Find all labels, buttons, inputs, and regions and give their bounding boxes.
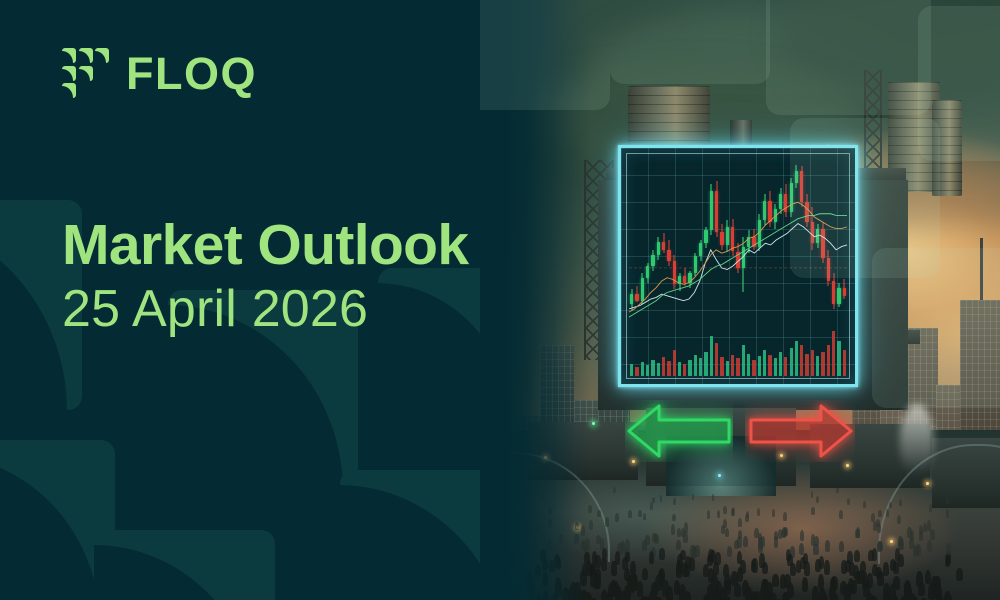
person-silhouette [712,494,715,501]
person-silhouette [625,539,630,551]
volume-bar [843,350,846,376]
person-silhouette [752,558,758,573]
person-silhouette [909,593,916,600]
person-silhouette [684,591,691,600]
volume-bar [715,343,718,376]
person-silhouette [673,498,676,505]
person-silhouette [612,581,619,597]
person-silhouette [596,535,601,545]
person-silhouette [919,531,924,541]
person-silhouette [638,510,642,517]
person-silhouette [723,564,729,577]
volume-bar [678,362,681,376]
volume-bar [688,360,691,376]
person-silhouette [595,555,601,568]
person-silhouette [738,518,742,527]
person-silhouette [889,502,892,509]
person-silhouette [620,591,627,600]
volume-bar [832,331,835,376]
person-silhouette [856,527,860,538]
billboard-screen[interactable] [618,145,858,387]
artwork-edge-fade [480,0,590,600]
volume-bar [673,350,676,376]
person-silhouette [645,535,650,545]
brand-lockup[interactable]: FLOQ [62,48,257,98]
person-silhouette [796,560,802,573]
person-silhouette [787,554,793,567]
person-silhouette [613,487,615,493]
person-silhouette [772,509,776,517]
person-silhouette [819,556,825,569]
poster-canvas: FLOQ Market Outlook 25 April 2026 [0,0,1000,600]
hero-artwork [480,0,1000,600]
volume-bar [747,354,750,376]
person-silhouette [847,498,850,505]
person-silhouette [671,524,675,535]
volume-bar [837,341,840,376]
person-silhouette [802,577,809,592]
volume-bar [726,361,729,376]
person-silhouette [593,575,600,589]
moving-average-lines [629,158,847,322]
bullish-right-arrow[interactable] [745,400,855,462]
volume-bar [710,336,713,376]
person-silhouette [781,529,785,538]
volume-bar [683,364,686,376]
volume-bar [821,352,824,376]
person-silhouette [936,595,944,600]
volume-bar [800,345,803,376]
person-silhouette [605,517,609,527]
volume-bar [790,348,793,376]
person-silhouette [946,498,949,504]
person-silhouette [803,553,809,564]
volume-bar [635,367,638,376]
volume-bar [763,350,766,376]
person-silhouette [731,508,734,516]
volume-bar [768,355,771,376]
person-silhouette [956,568,962,581]
person-silhouette [895,548,900,561]
person-silhouette [692,494,695,500]
person-silhouette [615,513,619,522]
person-silhouette [627,575,634,590]
market-signal-arrows [625,400,855,462]
person-silhouette [652,533,657,542]
person-silhouette [886,509,890,517]
person-silhouette [677,528,681,537]
person-silhouette [831,594,838,600]
person-silhouette [890,559,896,571]
person-silhouette [811,491,814,497]
signal-lamp [592,422,595,425]
volume-bar [704,352,707,376]
person-silhouette [899,538,904,550]
person-silhouette [611,561,617,575]
volume-bar [752,360,755,376]
person-silhouette [783,512,787,521]
volume-bar [784,357,787,376]
person-silhouette [708,568,714,583]
person-silhouette [816,496,819,503]
person-silhouette [676,565,682,578]
person-silhouette [742,580,749,597]
floq-corner-glyph [0,440,115,600]
person-silhouette [836,487,838,493]
person-silhouette [723,506,726,514]
person-silhouette [649,590,656,600]
person-silhouette [740,560,746,574]
person-silhouette [913,545,918,557]
person-silhouette [778,529,782,539]
person-silhouette [819,588,826,600]
person-silhouette [927,520,931,530]
volume-bar [731,355,734,376]
person-silhouette [684,564,690,577]
person-silhouette [715,552,721,565]
person-silhouette [628,510,632,518]
volume-bar [816,356,819,376]
person-silhouette [597,510,601,517]
person-silhouette [927,540,932,553]
volume-bar [805,354,808,376]
person-silhouette [676,540,681,550]
volume-bar [736,358,739,376]
person-silhouette [946,509,950,518]
ma-slow-green [629,214,847,317]
person-silhouette [899,499,902,506]
person-silhouette [649,551,654,564]
person-silhouette [930,529,934,540]
volume-bar [827,345,830,376]
person-silhouette [872,548,877,561]
person-silhouette [825,540,830,552]
person-silhouette [945,554,951,567]
chart-plot-area [629,158,847,376]
person-silhouette [762,562,768,574]
person-silhouette [900,596,908,600]
volume-bar [699,358,702,376]
person-silhouette [824,560,830,575]
person-silhouette [858,570,864,584]
person-silhouette [724,580,731,595]
person-silhouette [946,543,951,555]
person-silhouette [811,507,814,515]
person-silhouette [743,536,748,547]
person-silhouette [692,546,697,557]
person-silhouette [717,510,721,518]
floq-grid-mark-icon [62,48,109,98]
person-silhouette [883,562,889,576]
person-silhouette [738,530,742,540]
headline-block: Market Outlook 25 April 2026 [62,216,469,337]
person-silhouette [878,510,882,517]
person-silhouette [883,583,890,600]
person-silhouette [772,574,779,587]
volume-bar [774,358,777,376]
volume-bar [667,361,670,376]
person-silhouette [873,521,877,530]
person-silhouette [863,501,866,507]
person-silhouette [745,514,749,523]
person-silhouette [659,568,665,583]
volume-bar [795,341,798,376]
person-silhouette [683,532,688,543]
person-silhouette [831,576,838,590]
volume-bar [742,345,745,376]
person-silhouette [757,508,760,516]
storage-tank [932,100,962,196]
person-silhouette [707,510,711,519]
person-silhouette [725,528,729,537]
person-silhouette [780,574,787,589]
person-silhouette [761,536,766,548]
publication-date: 25 April 2026 [62,282,469,337]
volume-bar [662,357,665,376]
person-silhouette [897,515,901,524]
person-silhouette [929,504,932,512]
volume-bars [629,324,847,376]
person-silhouette [652,497,655,503]
person-silhouette [782,593,789,600]
person-silhouette [650,502,653,510]
volume-bar [720,357,723,376]
floq-corner-glyph [95,530,275,600]
person-silhouette [680,550,685,561]
bearish-left-arrow[interactable] [625,400,733,462]
volume-bar [694,355,697,376]
person-silhouette [766,582,773,598]
person-silhouette [854,550,859,562]
person-silhouette [847,551,852,563]
volume-bar [651,360,654,376]
volume-bar [630,364,633,376]
person-silhouette [727,546,732,557]
person-silhouette [659,548,664,560]
volume-bar [779,352,782,376]
person-silhouette [844,584,851,600]
page-title: Market Outlook [62,216,469,274]
person-silhouette [918,582,925,596]
volume-bar [811,350,814,376]
person-silhouette [876,567,882,580]
person-silhouette [707,584,714,600]
person-silhouette [800,530,804,541]
person-silhouette [813,544,818,555]
person-silhouette [660,495,663,502]
person-silhouette [643,513,647,520]
volume-bar [657,363,660,376]
person-silhouette [839,510,843,519]
person-silhouette [944,594,951,600]
person-silhouette [619,543,624,555]
person-silhouette [642,568,648,581]
brand-wordmark: FLOQ [126,51,257,96]
volume-bar [641,362,644,376]
person-silhouette [910,530,914,541]
volume-bar [758,356,761,376]
person-silhouette [601,557,607,571]
person-silhouette [674,580,681,595]
person-silhouette [839,541,844,552]
person-silhouette [754,528,758,538]
person-silhouette [734,583,741,597]
person-silhouette [672,514,676,521]
volume-bar [646,365,649,376]
